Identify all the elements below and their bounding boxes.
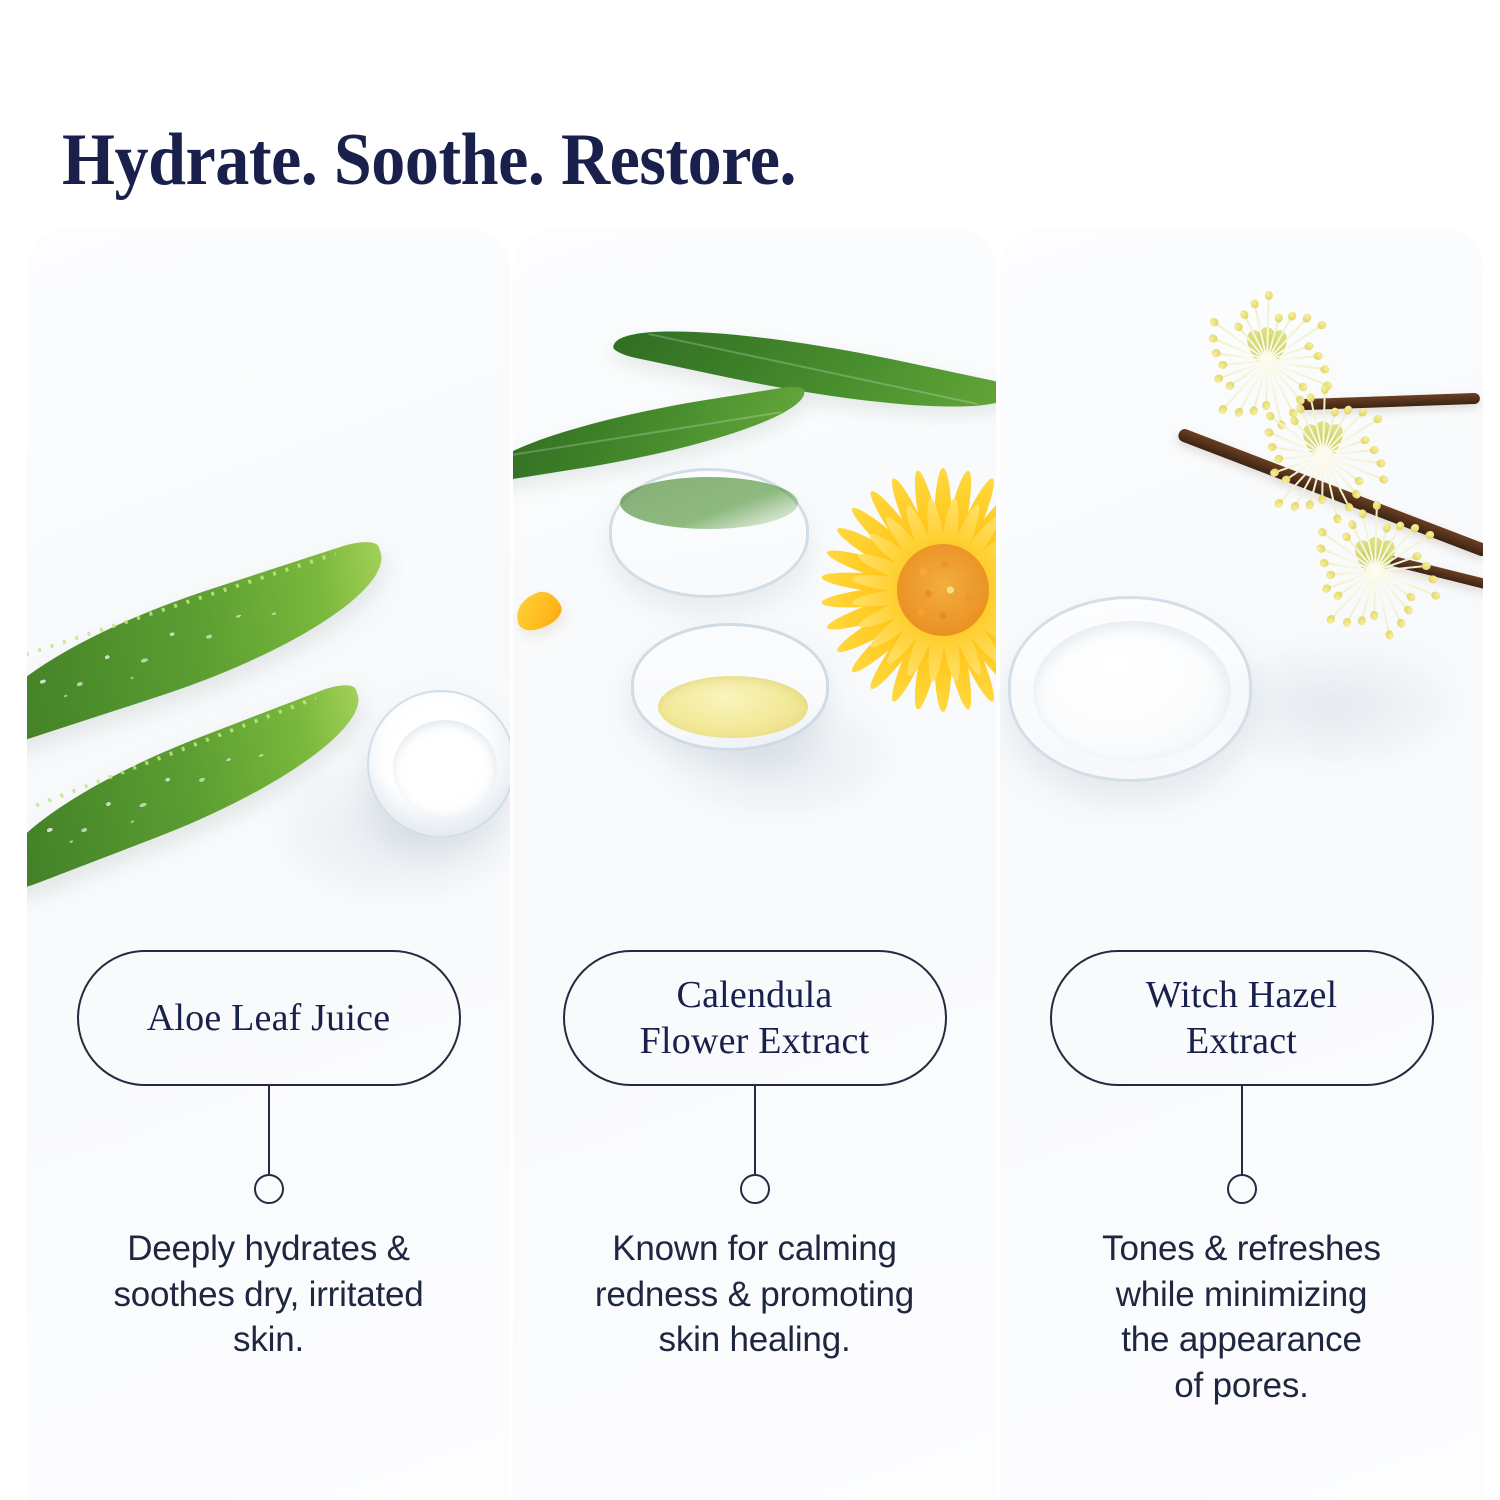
ingredient-description: Known for calming redness & promoting sk… bbox=[555, 1226, 955, 1363]
connector-line bbox=[1241, 1086, 1243, 1174]
green-leaf-icon bbox=[513, 384, 811, 483]
ingredient-pill-label: Calendula Flower Extract bbox=[614, 972, 896, 1065]
ingredient-pill-label: Aloe Leaf Juice bbox=[121, 995, 417, 1041]
aloe-callout: Aloe Leaf Juice Deeply hydrates & soothe… bbox=[27, 950, 510, 1363]
connector-dot-icon bbox=[740, 1174, 770, 1204]
calendula-flower-icon bbox=[809, 456, 996, 724]
connector-dot-icon bbox=[1227, 1174, 1257, 1204]
ingredient-pill-witch-hazel[interactable]: Witch Hazel Extract bbox=[1050, 950, 1434, 1086]
ingredient-pill-calendula[interactable]: Calendula Flower Extract bbox=[563, 950, 947, 1086]
dish-contents bbox=[393, 720, 497, 816]
ingredient-pill-aloe[interactable]: Aloe Leaf Juice bbox=[77, 950, 461, 1086]
pill-connector bbox=[27, 1086, 510, 1204]
ingredient-description: Tones & refreshes while minimizing the a… bbox=[1042, 1226, 1442, 1408]
aloe-photo bbox=[27, 228, 510, 928]
calendula-callout: Calendula Flower Extract Known for calmi… bbox=[513, 950, 996, 1363]
pill-connector bbox=[513, 1086, 996, 1204]
pill-connector bbox=[1000, 1086, 1483, 1204]
glass-dish-oil-icon bbox=[631, 623, 829, 751]
blossom-node bbox=[1312, 445, 1334, 465]
blossom-node bbox=[1256, 351, 1278, 371]
ingredient-description: Deeply hydrates & soothes dry, irritated… bbox=[69, 1226, 469, 1363]
ingredient-column-calendula: Calendula Flower Extract Known for calmi… bbox=[513, 228, 996, 1500]
ingredient-panel: Witch Hazel Extract Tones & refreshes wh… bbox=[1000, 228, 1483, 1500]
connector-line bbox=[268, 1086, 270, 1174]
calendula-photo bbox=[513, 228, 996, 928]
connector-line bbox=[754, 1086, 756, 1174]
ingredient-pill-label: Witch Hazel Extract bbox=[1120, 972, 1364, 1065]
glass-dish-empty-icon bbox=[609, 468, 809, 598]
ingredient-panel: Calendula Flower Extract Known for calmi… bbox=[513, 228, 996, 1500]
ingredient-column-aloe: Aloe Leaf Juice Deeply hydrates & soothe… bbox=[27, 228, 510, 1500]
witch-hazel-blossom-icon bbox=[1300, 496, 1450, 646]
ingredient-columns: Aloe Leaf Juice Deeply hydrates & soothe… bbox=[0, 0, 1500, 1500]
dish-contents bbox=[1033, 621, 1231, 761]
blossom-node bbox=[1364, 561, 1386, 581]
ingredient-panel: Aloe Leaf Juice Deeply hydrates & soothe… bbox=[27, 228, 510, 1500]
flower-center bbox=[897, 544, 989, 636]
loose-petal-icon bbox=[513, 586, 566, 636]
witch-hazel-callout: Witch Hazel Extract Tones & refreshes wh… bbox=[1000, 950, 1483, 1408]
connector-dot-icon bbox=[254, 1174, 284, 1204]
witch-hazel-photo bbox=[1000, 228, 1483, 928]
oil-liquid bbox=[658, 676, 808, 738]
ingredient-column-witch-hazel: Witch Hazel Extract Tones & refreshes wh… bbox=[1000, 228, 1483, 1500]
glass-dish-icon bbox=[367, 690, 510, 838]
glass-dish-icon bbox=[1008, 596, 1252, 782]
